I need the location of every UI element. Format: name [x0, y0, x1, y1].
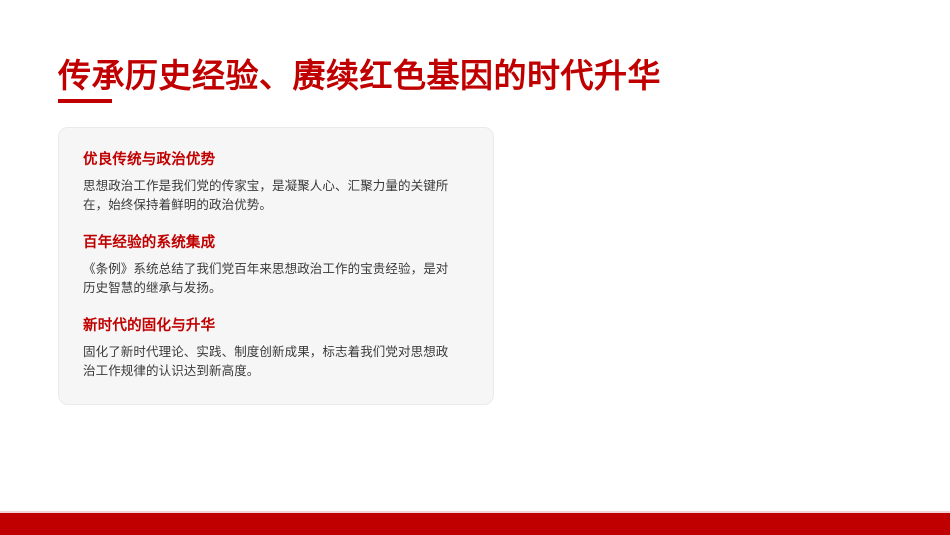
content-card: 优良传统与政治优势 思想政治工作是我们党的传家宝，是凝聚人心、汇聚力量的关键所在… — [58, 127, 494, 405]
section-heading: 百年经验的系统集成 — [83, 233, 469, 253]
slide: 传承历史经验、赓续红色基因的时代升华 优良传统与政治优势 思想政治工作是我们党的… — [0, 0, 950, 535]
bottom-accent-bar — [0, 513, 950, 535]
section-item: 百年经验的系统集成 《条例》系统总结了我们党百年来思想政治工作的宝贵经验，是对历… — [83, 233, 469, 298]
section-body: 《条例》系统总结了我们党百年来思想政治工作的宝贵经验，是对历史智慧的继承与发扬。 — [83, 260, 455, 298]
section-item: 优良传统与政治优势 思想政治工作是我们党的传家宝，是凝聚人心、汇聚力量的关键所在… — [83, 150, 469, 215]
title-block: 传承历史经验、赓续红色基因的时代升华 — [58, 55, 661, 97]
section-body: 思想政治工作是我们党的传家宝，是凝聚人心、汇聚力量的关键所在，始终保持着鲜明的政… — [83, 177, 455, 215]
section-heading: 优良传统与政治优势 — [83, 150, 469, 170]
page-title: 传承历史经验、赓续红色基因的时代升华 — [58, 55, 661, 97]
title-underline-accent — [58, 99, 112, 103]
section-body: 固化了新时代理论、实践、制度创新成果，标志着我们党对思想政治工作规律的认识达到新… — [83, 343, 455, 381]
section-heading: 新时代的固化与升华 — [83, 316, 469, 336]
section-item: 新时代的固化与升华 固化了新时代理论、实践、制度创新成果，标志着我们党对思想政治… — [83, 316, 469, 381]
